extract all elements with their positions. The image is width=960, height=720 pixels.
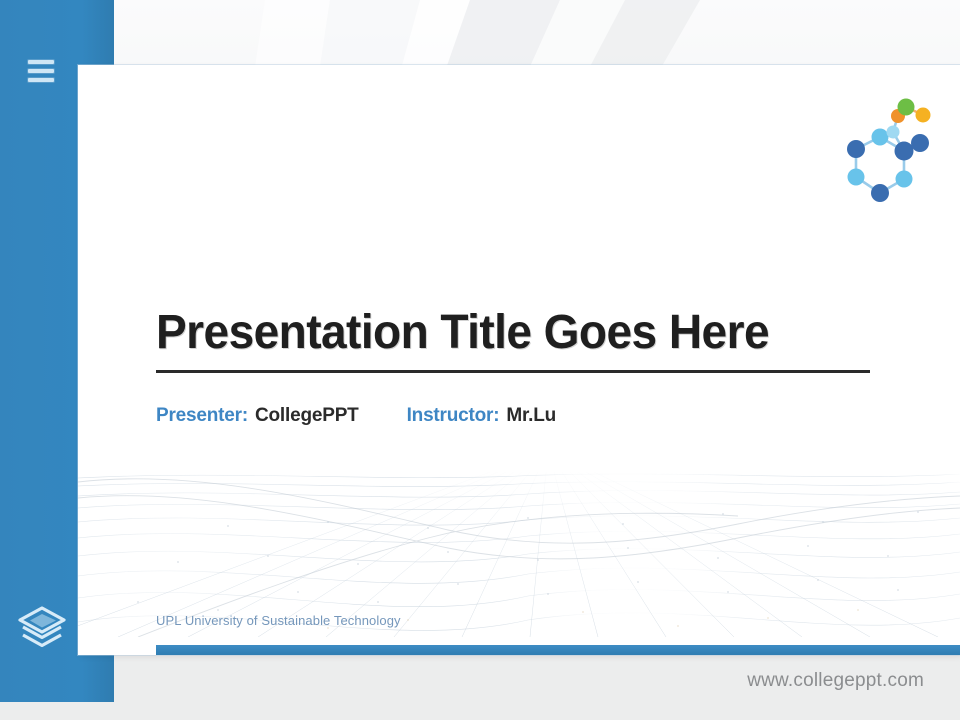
molecule-node [847, 140, 865, 158]
instructor-item: Instructor: Mr.Lu [407, 405, 556, 427]
molecule-node [872, 129, 889, 146]
presenter-item: Presenter: CollegePPT [156, 405, 359, 427]
molecule-icon [834, 93, 942, 213]
molecule-node [898, 99, 915, 116]
instructor-value: Mr.Lu [506, 405, 556, 427]
title-underline-rule [156, 370, 870, 373]
molecule-node [911, 134, 929, 152]
molecule-node [916, 108, 931, 123]
molecule-node [871, 184, 889, 202]
wireframe-mesh-icon [78, 452, 960, 637]
university-caption: UPL University of Sustainable Technology [156, 613, 401, 628]
layers-stack-icon[interactable] [14, 600, 70, 656]
hamburger-icon[interactable] [28, 60, 54, 82]
hamburger-bar-3 [28, 78, 54, 82]
slide-card: Presentation Title Goes Here Presenter: … [78, 65, 960, 655]
title-block: Presentation Title Goes Here [156, 308, 870, 373]
molecule-node [896, 171, 913, 188]
molecule-node [848, 169, 865, 186]
molecule-node [895, 142, 914, 161]
card-bottom-accent-bar [156, 645, 960, 655]
presenter-meta-row: Presenter: CollegePPT Instructor: Mr.Lu [156, 405, 556, 427]
instructor-label: Instructor: [407, 405, 500, 427]
page-title: Presentation Title Goes Here [156, 308, 841, 358]
molecule-node [887, 126, 900, 139]
slide-canvas: Presentation Title Goes Here Presenter: … [0, 0, 960, 720]
footer-url[interactable]: www.collegeppt.com [747, 670, 924, 692]
presenter-value: CollegePPT [255, 405, 359, 427]
hamburger-bar-1 [28, 60, 54, 64]
presenter-label: Presenter: [156, 405, 248, 427]
hamburger-bar-2 [28, 69, 54, 73]
